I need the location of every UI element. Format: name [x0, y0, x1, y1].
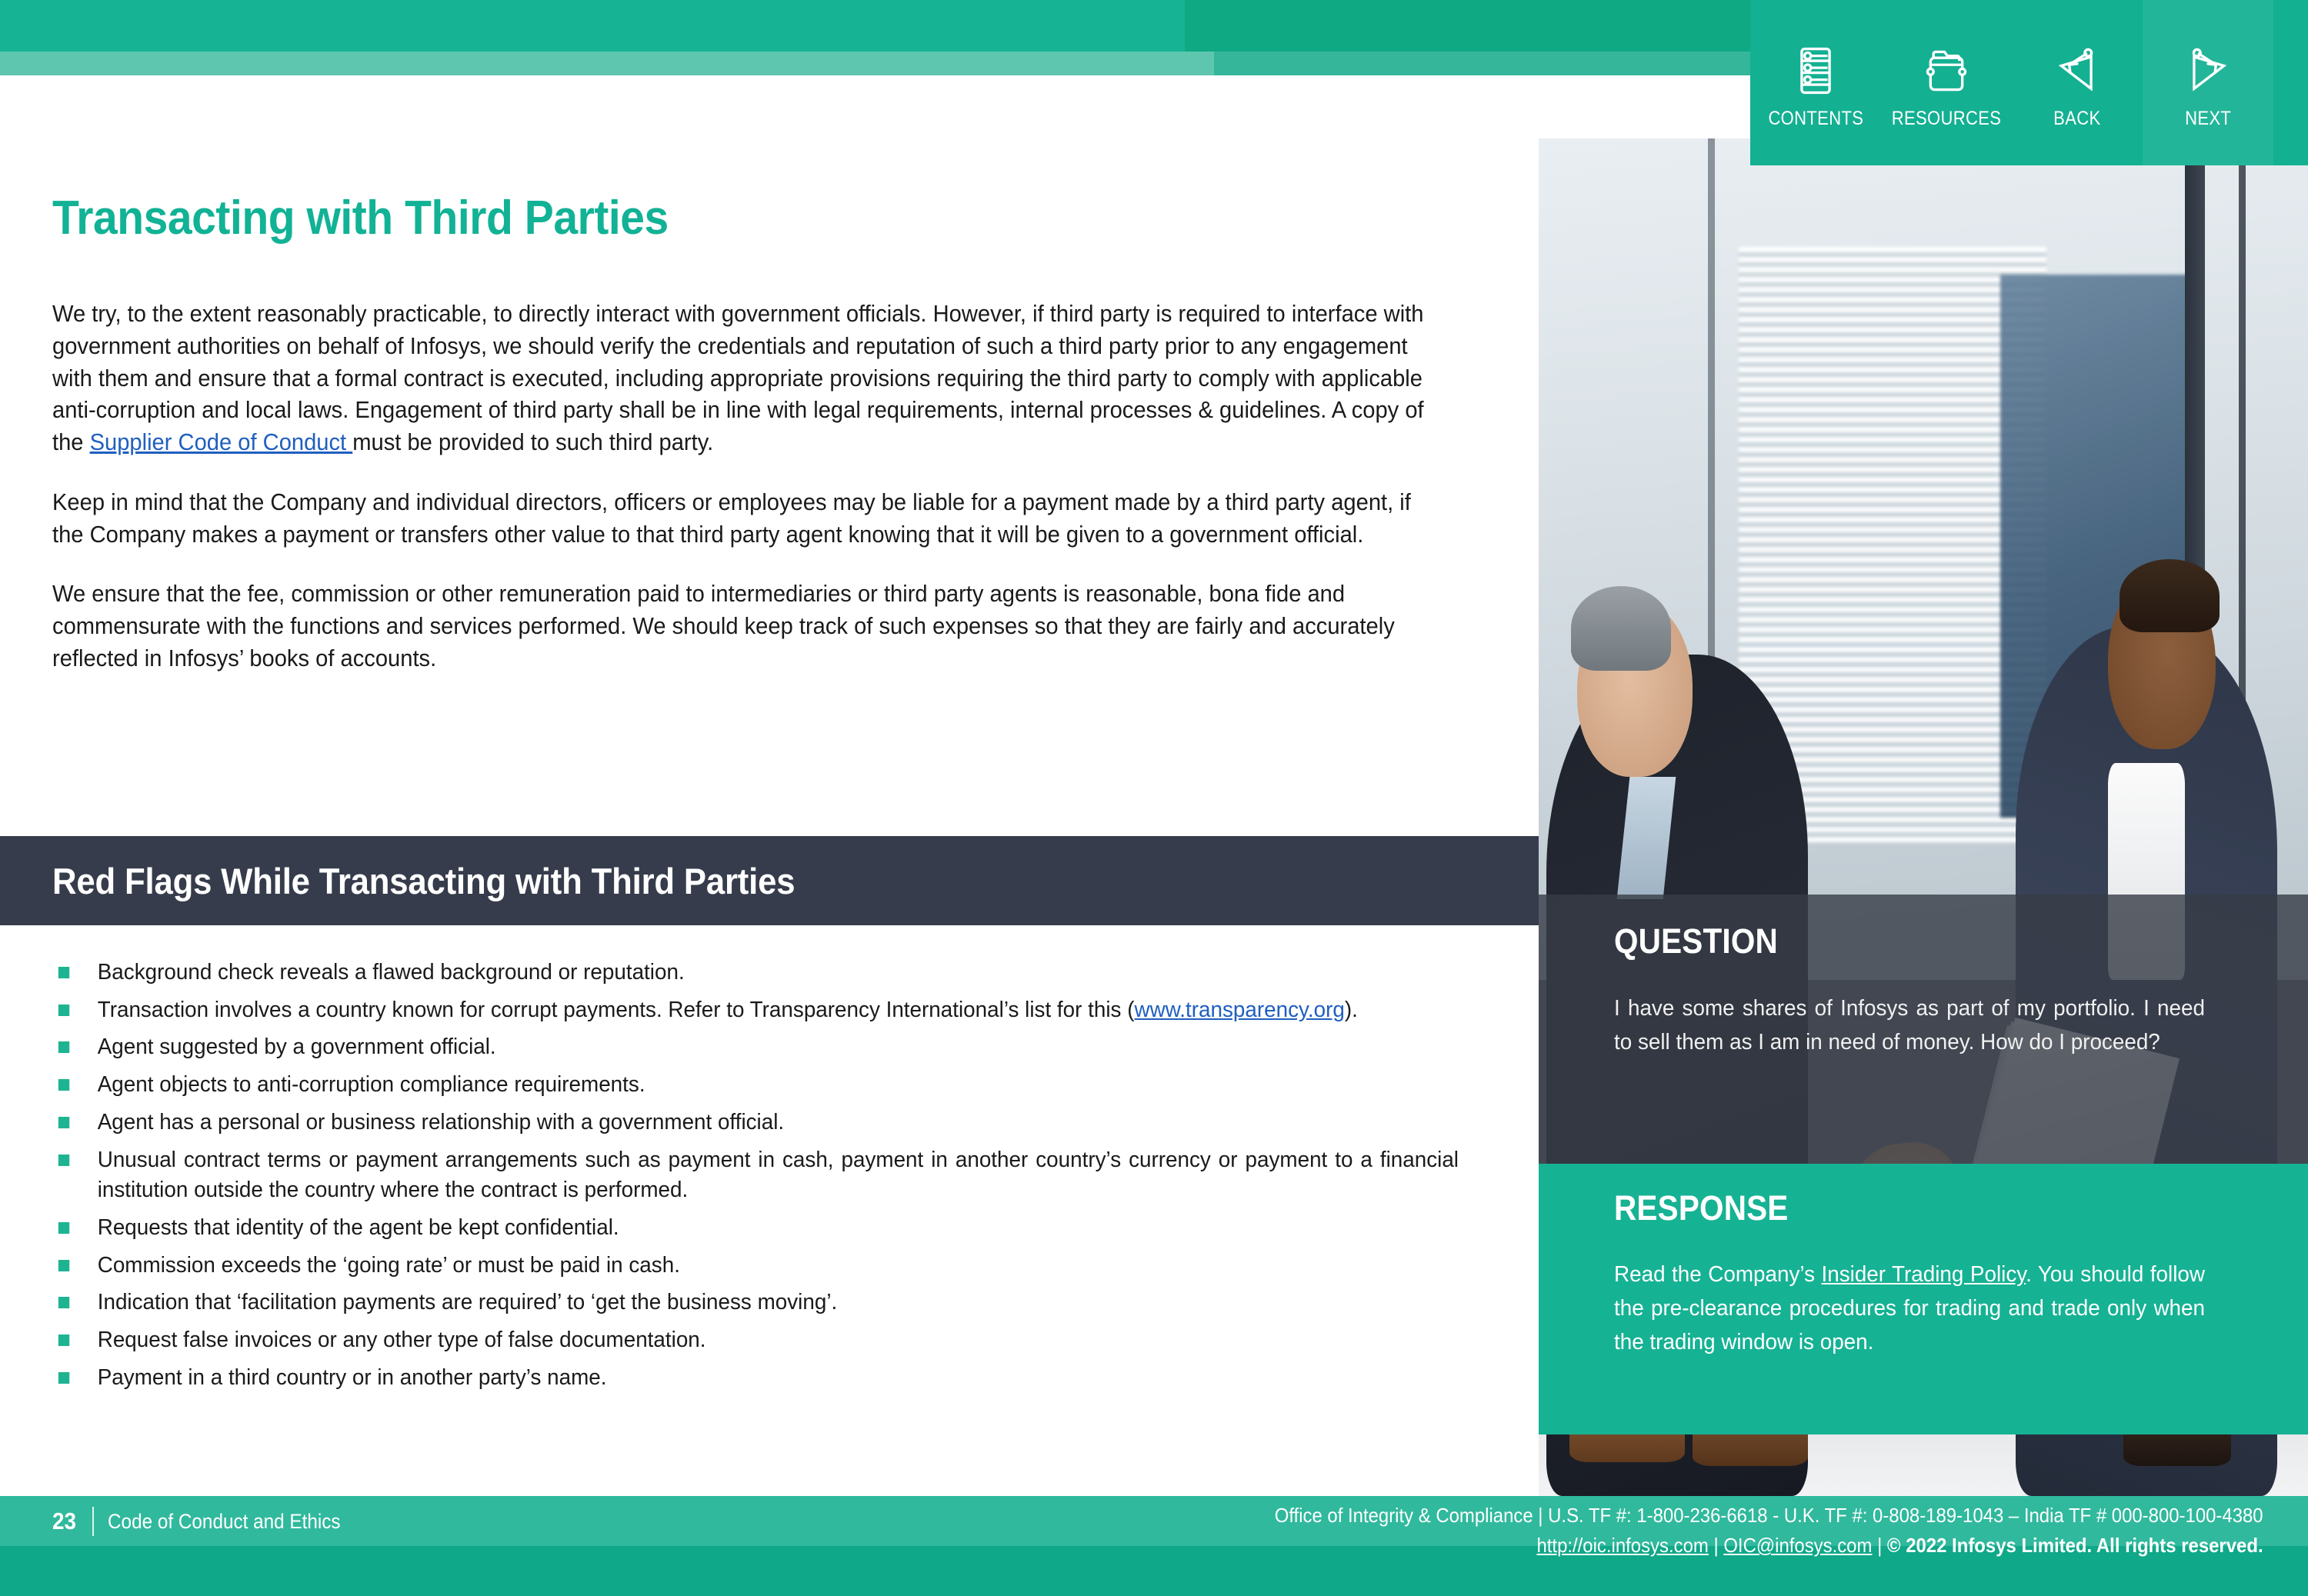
nav-label-resources: RESOURCES — [1892, 108, 2002, 130]
nav-item-back[interactable]: BACK — [2012, 0, 2143, 165]
footer-copyright: © 2022 Infosys Limited. All rights reser… — [1887, 1534, 2263, 1557]
footer-left-group: 23 Code of Conduct and Ethics — [52, 1507, 367, 1536]
nav-item-resources[interactable]: RESOURCES — [1881, 0, 2012, 165]
list-item-text: Agent objects to anti-corruption complia… — [98, 1072, 645, 1097]
question-title: QUESTION — [1614, 921, 1778, 961]
nav-label-contents: CONTENTS — [1768, 108, 1863, 130]
page-title: Transacting with Third Parties — [52, 191, 669, 245]
folder-icon — [1923, 45, 1970, 97]
list-item-text: Agent has a personal or business relatio… — [98, 1110, 784, 1135]
list-item: Requests that identity of the agent be k… — [55, 1213, 1459, 1244]
red-flags-section-header: Red Flags While Transacting with Third P… — [0, 836, 1539, 925]
list-item-text: Transaction involves a country known for… — [98, 998, 1135, 1022]
footer-page-number: 23 — [52, 1508, 76, 1535]
photo-person-left-hair — [1571, 586, 1671, 670]
list-item-text: Payment in a third country or in another… — [98, 1365, 607, 1390]
list-item: Payment in a third country or in another… — [55, 1363, 1459, 1394]
footer-right-group: Office of Integrity & Compliance | U.S. … — [1189, 1504, 2263, 1558]
nav-item-contents[interactable]: CONTENTS — [1750, 0, 1881, 165]
paragraph-3-text: We ensure that the fee, commission or ot… — [52, 581, 1395, 671]
list-item-text: Background check reveals a flawed backgr… — [98, 960, 685, 985]
response-title: RESPONSE — [1614, 1188, 1789, 1228]
header-band-primary — [0, 0, 1185, 52]
list-item: Indication that ‘facilitation payments a… — [55, 1288, 1459, 1318]
nav-label-next: NEXT — [2185, 108, 2231, 130]
question-body: I have some shares of Infosys as part of… — [1614, 991, 2205, 1059]
paragraph-2-text: Keep in mind that the Company and indivi… — [52, 489, 1411, 548]
nav-label-back: BACK — [2053, 108, 2100, 130]
list-item-text: Unusual contract terms or payment arrang… — [98, 1148, 1459, 1203]
transparency-org-link[interactable]: www.transparency.org — [1134, 998, 1344, 1022]
back-arrow-icon — [2053, 45, 2101, 97]
list-item-text: Indication that ‘facilitation payments a… — [98, 1290, 838, 1314]
next-arrow-icon — [2184, 45, 2232, 97]
top-navigation-bar: CONTENTS RESOURCES BACK — [1750, 0, 2308, 165]
list-item-text: Agent suggested by a government official… — [98, 1035, 496, 1059]
footer-website-link[interactable]: http://oic.infosys.com — [1537, 1534, 1709, 1557]
body-paragraphs: We try, to the extent reasonably practic… — [52, 298, 1510, 703]
paragraph-3: We ensure that the fee, commission or ot… — [52, 578, 1445, 675]
red-flags-list: Background check reveals a flawed backgr… — [55, 958, 1517, 1401]
footer-email-link[interactable]: OIC@infosys.com — [1724, 1534, 1873, 1557]
header-band-secondary — [0, 52, 1214, 75]
list-item-text: Requests that identity of the agent be k… — [98, 1215, 619, 1240]
paragraph-1: We try, to the extent reasonably practic… — [52, 298, 1445, 459]
list-item: Unusual contract terms or payment arrang… — [55, 1145, 1459, 1206]
paragraph-2: Keep in mind that the Company and indivi… — [52, 487, 1445, 551]
footer-links-line: http://oic.infosys.com | OIC@infosys.com… — [1275, 1534, 2263, 1558]
contents-list-icon — [1792, 45, 1839, 97]
page-footer: 23 Code of Conduct and Ethics Office of … — [0, 1496, 2308, 1596]
list-item: Agent suggested by a government official… — [55, 1032, 1459, 1063]
footer-separator-2: | — [1873, 1534, 1888, 1557]
nav-item-next[interactable]: NEXT — [2143, 0, 2273, 165]
footer-separator-1: | — [1709, 1534, 1724, 1557]
response-text-pre: Read the Company’s — [1614, 1262, 1821, 1287]
question-panel: QUESTION I have some shares of Infosys a… — [1539, 895, 2308, 1164]
insider-trading-policy-link[interactable]: Insider Trading Policy — [1821, 1262, 2026, 1287]
list-item: Request false invoices or any other type… — [55, 1325, 1459, 1356]
list-item: Transaction involves a country known for… — [55, 995, 1459, 1026]
response-panel: RESPONSE Read the Company’s Insider Trad… — [1539, 1164, 2308, 1434]
list-item-text: Commission exceeds the ‘going rate’ or m… — [98, 1253, 680, 1278]
paragraph-1-post: must be provided to such third party. — [352, 429, 713, 455]
list-item: Agent objects to anti-corruption complia… — [55, 1070, 1459, 1101]
footer-contact-line: Office of Integrity & Compliance | U.S. … — [1275, 1504, 2263, 1528]
list-item: Commission exceeds the ‘going rate’ or m… — [55, 1251, 1459, 1281]
list-item: Background check reveals a flawed backgr… — [55, 958, 1459, 988]
photo-person-right-hair — [2120, 559, 2220, 632]
red-flags-heading: Red Flags While Transacting with Third P… — [52, 860, 795, 902]
footer-document-title: Code of Conduct and Ethics — [108, 1510, 341, 1534]
list-item-text: Request false invoices or any other type… — [98, 1328, 706, 1352]
list-item: Agent has a personal or business relatio… — [55, 1108, 1459, 1138]
supplier-code-of-conduct-link[interactable]: Supplier Code of Conduct — [90, 429, 353, 455]
list-item-text-post: ). — [1345, 998, 1358, 1022]
footer-divider — [92, 1507, 94, 1536]
response-body: Read the Company’s Insider Trading Polic… — [1614, 1258, 2205, 1359]
